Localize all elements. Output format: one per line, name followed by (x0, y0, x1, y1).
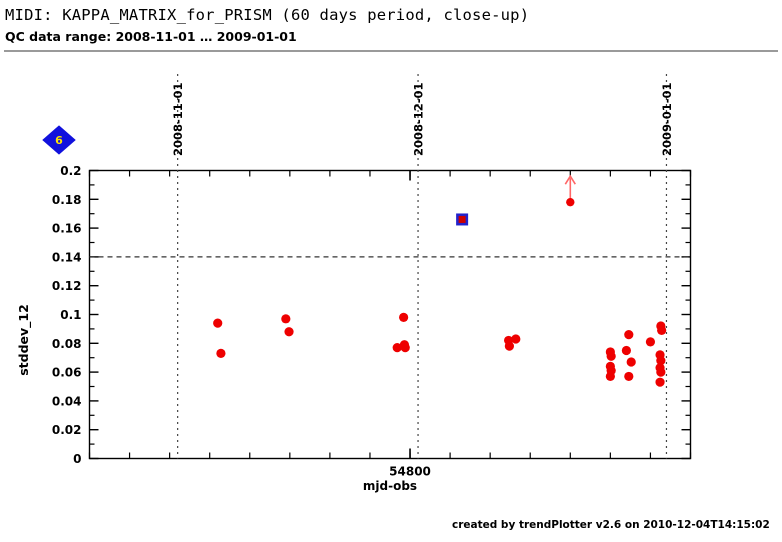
footer-credit: created by trendPlotter v2.6 on 2010-12-… (452, 519, 770, 531)
y-tick-label: 0.1 (60, 308, 81, 322)
x-tick-label: 54800 (389, 465, 431, 479)
data-point (216, 349, 225, 358)
data-point (606, 372, 615, 381)
data-point (401, 343, 410, 352)
data-point (505, 342, 514, 351)
out-of-range-arrow (565, 176, 575, 206)
data-point (511, 334, 520, 343)
data-point (655, 378, 664, 387)
y-tick-label: 0 (73, 452, 81, 466)
x-axis: 54800 (90, 171, 691, 479)
y-axis: 00.020.040.060.080.10.120.140.160.180.2 (52, 164, 691, 466)
date-gridline-label: 2009-01-01 (660, 82, 674, 156)
date-gridline-label: 2008-11-01 (171, 82, 185, 156)
y-tick-label: 0.08 (52, 337, 82, 351)
flag-diamond-6-icon[interactable]: 6 (43, 126, 75, 154)
data-point (627, 357, 636, 366)
y-tick-label: 0.16 (52, 222, 82, 236)
y-tick-label: 0.06 (52, 366, 82, 380)
y-tick-label: 0.02 (52, 423, 82, 437)
y-tick-label: 0.12 (52, 279, 82, 293)
flag-digit-label: 6 (55, 134, 63, 147)
data-points (213, 313, 666, 387)
data-point (281, 314, 290, 323)
y-tick-label: 0.2 (60, 164, 81, 178)
data-point (213, 319, 222, 328)
y-tick-label: 0.14 (52, 250, 82, 264)
date-gridline-label: 2008-12-01 (412, 82, 426, 156)
data-point (656, 368, 665, 377)
data-point (284, 327, 293, 336)
data-point (399, 313, 408, 322)
data-point (622, 346, 631, 355)
data-point (624, 372, 633, 381)
data-point (607, 352, 616, 361)
overlap-marker (456, 213, 468, 225)
y-tick-label: 0.04 (52, 394, 82, 408)
plot-frame (90, 171, 691, 459)
plot-canvas: 00.020.040.060.080.10.120.140.160.180.2 … (0, 0, 782, 542)
arrow-base-point (566, 198, 574, 206)
special-markers (456, 176, 575, 225)
scatter-plot: 00.020.040.060.080.10.120.140.160.180.2 … (0, 0, 782, 542)
data-point (624, 330, 633, 339)
data-point (393, 343, 402, 352)
data-point (657, 326, 666, 335)
date-labels: 2008-11-012008-12-012009-01-01 (171, 82, 674, 156)
data-point (646, 337, 655, 346)
y-tick-label: 0.18 (52, 193, 82, 207)
y-axis-label: stddev_12 (16, 304, 32, 376)
x-axis-label: mjd-obs (363, 479, 417, 493)
overlap-inner (459, 216, 466, 223)
